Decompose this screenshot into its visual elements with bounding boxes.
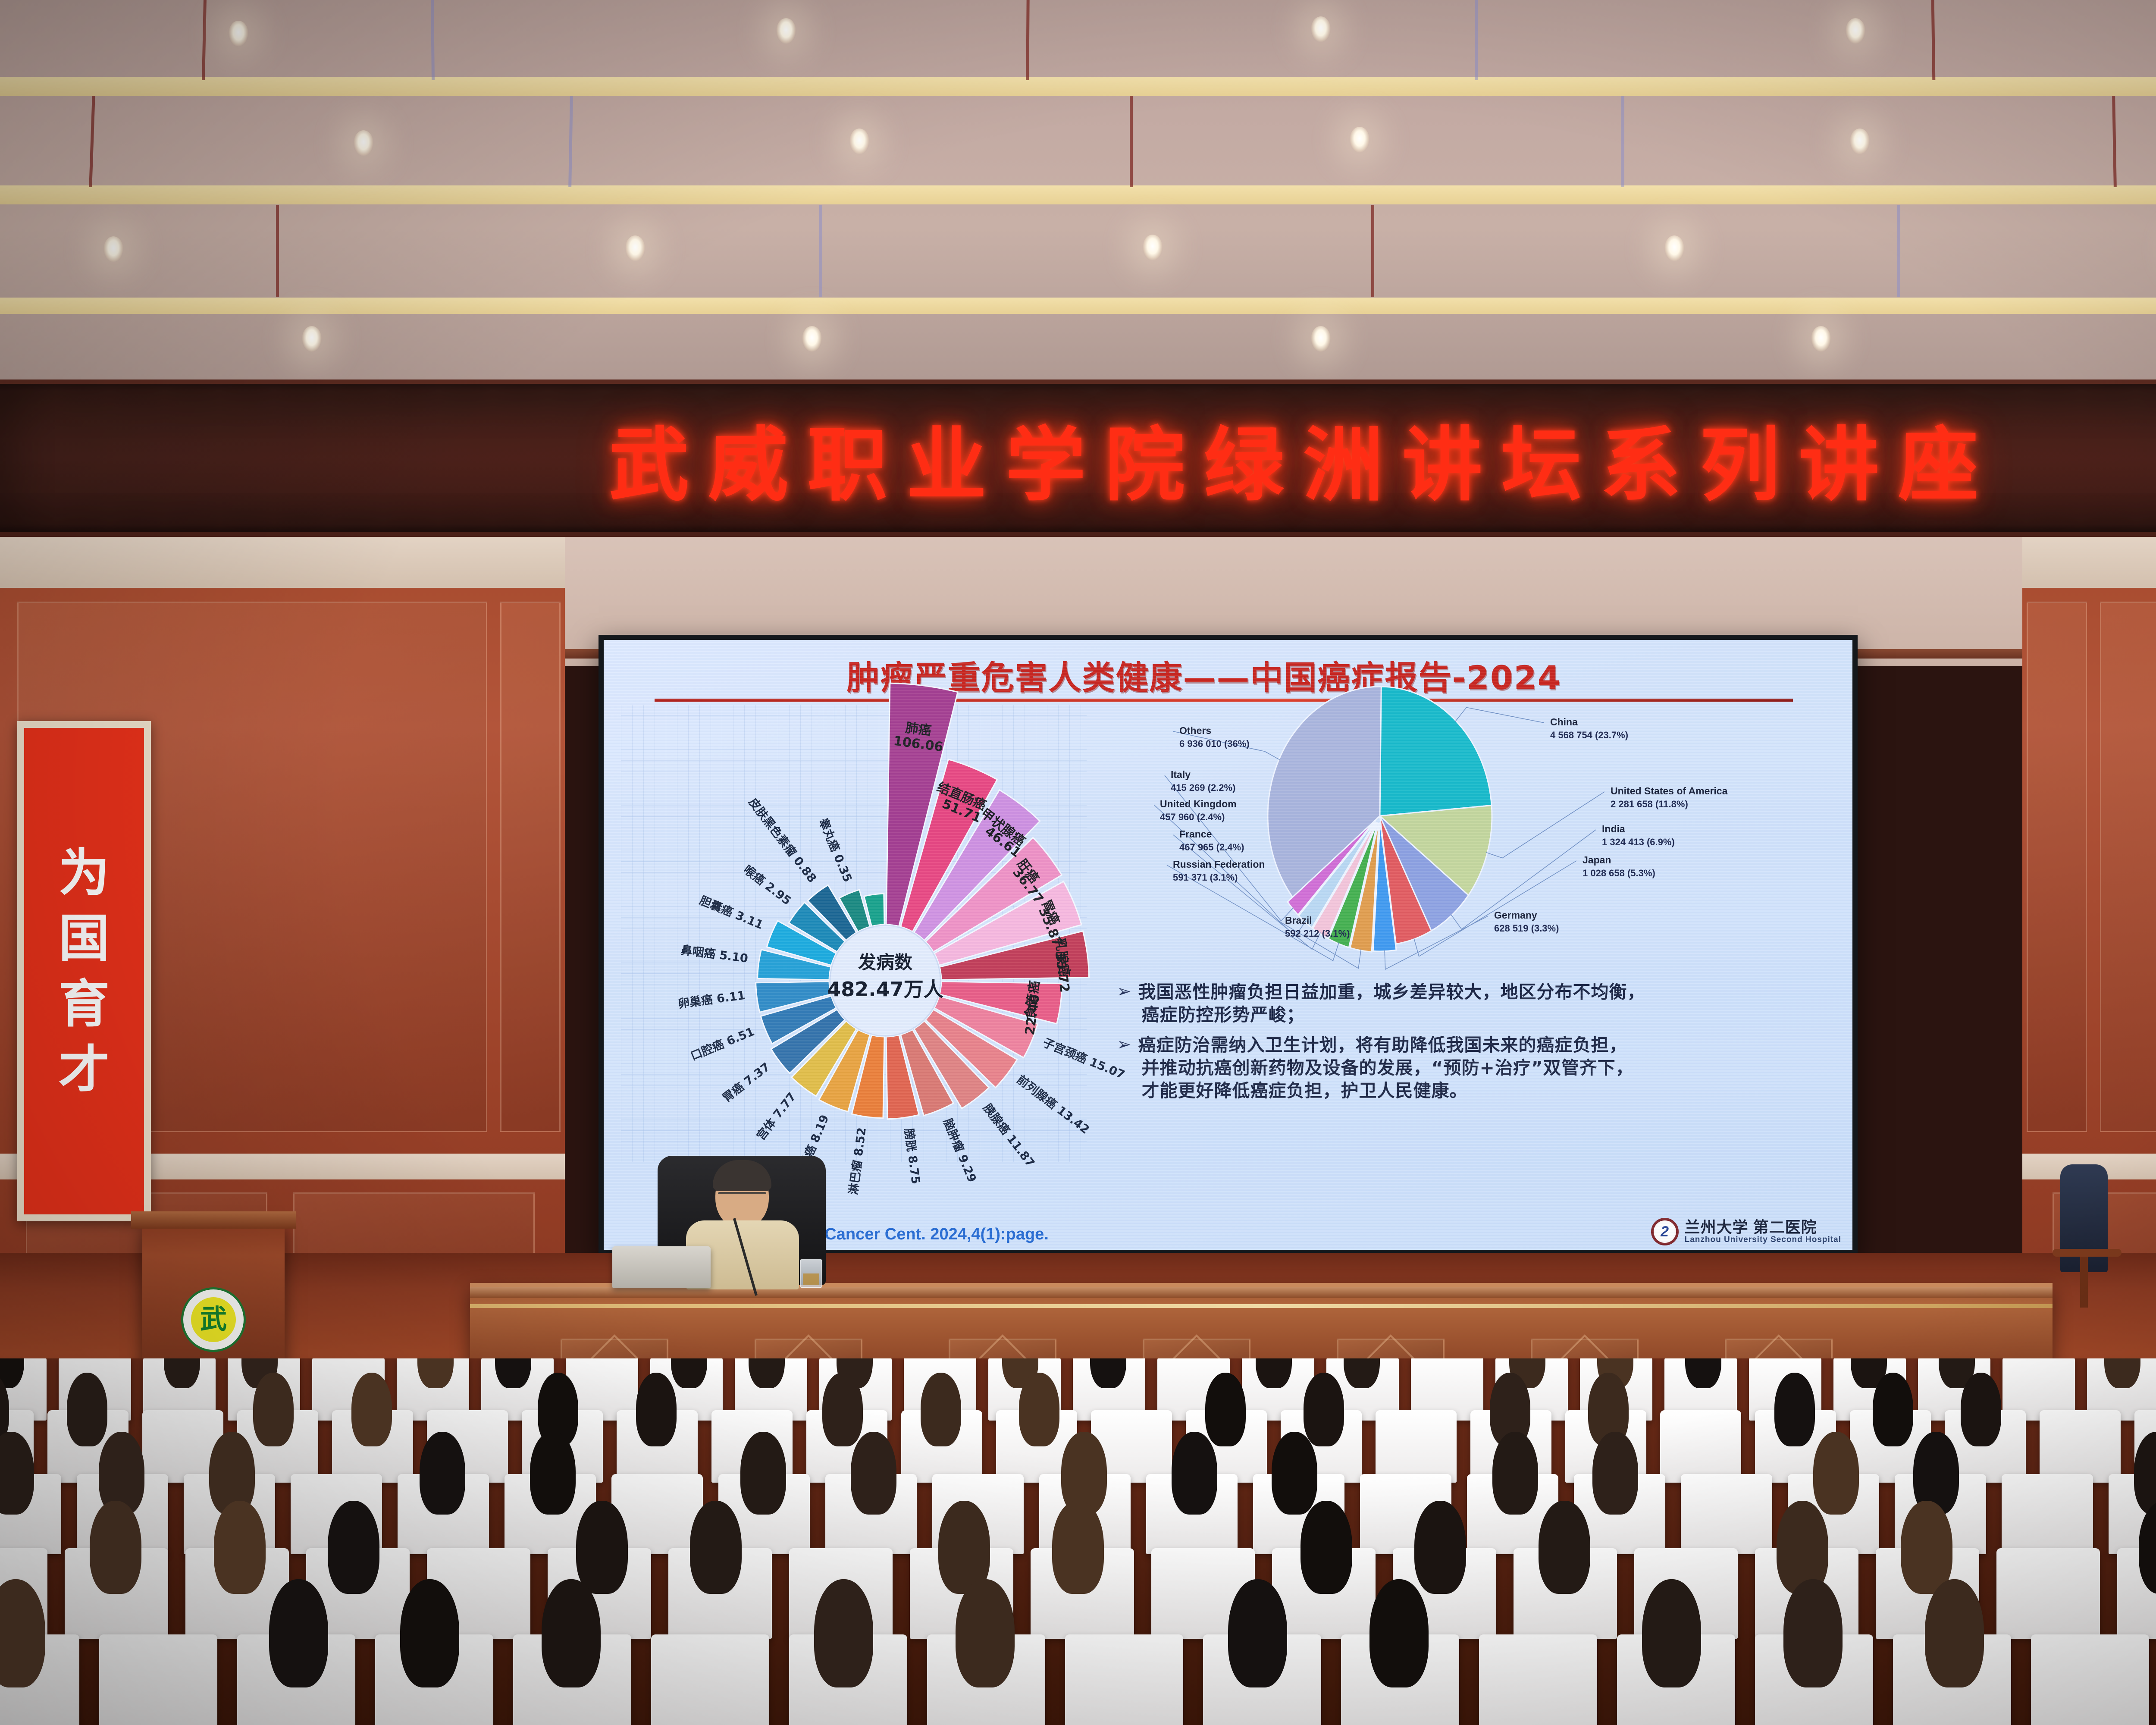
downlight-icon bbox=[1846, 18, 1865, 44]
bullet-marker-icon: ➢ bbox=[1117, 1034, 1131, 1103]
svg-text:Others: Others bbox=[1179, 725, 1211, 736]
led-banner-text: 武威职业学院绿洲讲坛系列讲座 bbox=[0, 400, 2156, 516]
downlight-icon bbox=[849, 129, 869, 154]
audience-member bbox=[67, 1373, 107, 1446]
banner-scroll-left: 为 国 育 才 bbox=[17, 721, 151, 1221]
rose-chart-svg: 发病数 482.47万人 肺癌106.06结直肠癌51.71甲状腺癌46.61肝… bbox=[667, 705, 1103, 1140]
svg-text:胃癌 7.37: 胃癌 7.37 bbox=[720, 1060, 773, 1105]
audience-member bbox=[1774, 1373, 1815, 1446]
downlight-icon bbox=[776, 18, 796, 44]
downlight-icon bbox=[1143, 235, 1163, 260]
audience-member bbox=[1304, 1373, 1344, 1446]
audience-chair bbox=[1065, 1634, 1183, 1725]
audience-member bbox=[214, 1501, 266, 1594]
audience-member bbox=[269, 1579, 328, 1687]
bullet-1-line-1: 我国恶性肿瘤负担日益加重，城乡差异较大，地区分布不均衡， bbox=[1138, 982, 1645, 1002]
svg-text:China: China bbox=[1550, 716, 1578, 728]
audience-member bbox=[400, 1579, 459, 1687]
audience-chair bbox=[1660, 1410, 1741, 1483]
audience-member bbox=[1414, 1501, 1466, 1594]
slide-bullet-list: ➢ 我国恶性肿瘤负担日益加重，城乡差异较大，地区分布不均衡， 癌症防控形势严峻；… bbox=[1117, 981, 1833, 1109]
list-item: ➢ 癌症防治需纳入卫生计划，将有助降低我国未来的癌症负担， 并推动抗癌创新药物及… bbox=[1117, 1034, 1833, 1103]
svg-text:1 324 413 (6.9%): 1 324 413 (6.9%) bbox=[1602, 837, 1675, 847]
rose-center-title: 发病数 bbox=[858, 952, 912, 973]
audience-member bbox=[328, 1501, 379, 1594]
audience-member bbox=[851, 1432, 896, 1515]
audience-member bbox=[636, 1373, 677, 1446]
audience-member bbox=[956, 1579, 1015, 1687]
lecture-hall-photo: 武威职业学院绿洲讲坛系列讲座 为 国 育 才 为 党 育 人 bbox=[0, 0, 2156, 1725]
svg-text:India: India bbox=[1602, 823, 1625, 834]
lanzhou-university-seal-icon bbox=[1651, 1218, 1679, 1245]
audience-member bbox=[90, 1501, 141, 1594]
scroll-left-char-3: 育 bbox=[59, 979, 110, 1029]
svg-text:Germany: Germany bbox=[1494, 910, 1537, 921]
svg-text:457 960 (2.4%): 457 960 (2.4%) bbox=[1160, 812, 1225, 822]
svg-text:4 568 754 (23.7%): 4 568 754 (23.7%) bbox=[1550, 730, 1628, 740]
svg-text:2 281 658 (11.8%): 2 281 658 (11.8%) bbox=[1611, 799, 1688, 809]
svg-text:France: France bbox=[1179, 828, 1212, 840]
audience-chair bbox=[651, 1634, 769, 1725]
audience-member bbox=[542, 1579, 601, 1687]
audience-member bbox=[1592, 1432, 1638, 1515]
svg-text:鼻咽癌 5.10: 鼻咽癌 5.10 bbox=[680, 943, 749, 966]
audience-chair bbox=[99, 1634, 217, 1725]
scroll-left-char-1: 为 bbox=[59, 847, 110, 898]
audience-member bbox=[1642, 1579, 1701, 1687]
audience-member bbox=[1813, 1432, 1859, 1515]
audience-member bbox=[1777, 1501, 1828, 1594]
svg-text:宫体 7.77: 宫体 7.77 bbox=[754, 1090, 799, 1143]
global-cancer-pie-chart: China4 568 754 (23.7%)United States of A… bbox=[1104, 665, 1846, 967]
audience-chair bbox=[2031, 1634, 2149, 1725]
bullet-2-line-2: 并推动抗癌创新药物及设备的发展，“预防+治疗”双管齐下， bbox=[1138, 1057, 1634, 1079]
bullet-marker-icon: ➢ bbox=[1117, 981, 1131, 1027]
hospital-logo: 兰州大学 第二医院 Lanzhou University Second Hosp… bbox=[1651, 1218, 1841, 1245]
svg-text:1 028 658 (5.3%): 1 028 658 (5.3%) bbox=[1583, 868, 1655, 878]
svg-text:415 269 (2.2%): 415 269 (2.2%) bbox=[1171, 782, 1235, 793]
cancer-incidence-rose-chart: 发病数 482.47万人 肺癌106.06结直肠癌51.71甲状腺癌46.61肝… bbox=[667, 705, 1103, 1140]
audience-member bbox=[1901, 1501, 1952, 1594]
svg-text:卵巢癌 6.11: 卵巢癌 6.11 bbox=[677, 988, 746, 1011]
svg-text:Japan: Japan bbox=[1583, 854, 1611, 866]
svg-text:United Kingdom: United Kingdom bbox=[1160, 798, 1237, 809]
svg-text:前列腺癌 13.42: 前列腺癌 13.42 bbox=[1014, 1073, 1092, 1137]
audience-member bbox=[1300, 1501, 1352, 1594]
side-chair bbox=[2053, 1164, 2122, 1307]
downlight-icon bbox=[802, 326, 822, 352]
downlight-icon bbox=[1811, 326, 1831, 352]
audience-member bbox=[1172, 1432, 1217, 1515]
audience-member bbox=[1783, 1579, 1843, 1687]
svg-text:628 519 (3.3%): 628 519 (3.3%) bbox=[1494, 923, 1559, 934]
audience-member bbox=[530, 1432, 576, 1515]
downlight-icon bbox=[302, 326, 322, 352]
audience-chair bbox=[1479, 1634, 1597, 1725]
audience-seating bbox=[0, 1358, 2156, 1725]
downlight-icon bbox=[229, 21, 248, 47]
laptop bbox=[612, 1246, 711, 1288]
audience-member bbox=[814, 1579, 873, 1687]
audience-member bbox=[1019, 1373, 1059, 1446]
tea-cup bbox=[800, 1259, 822, 1288]
svg-text:Italy: Italy bbox=[1171, 769, 1191, 780]
scroll-left-char-4: 才 bbox=[59, 1044, 110, 1095]
svg-text:Brazil: Brazil bbox=[1285, 915, 1312, 926]
downlight-icon bbox=[625, 235, 645, 261]
svg-text:6 936 010 (36%): 6 936 010 (36%) bbox=[1179, 738, 1250, 749]
audience-chair bbox=[1376, 1410, 1457, 1483]
audience-chair bbox=[2040, 1410, 2121, 1483]
svg-text:592 212 (3.1%): 592 212 (3.1%) bbox=[1285, 928, 1350, 939]
audience-member bbox=[420, 1432, 465, 1515]
downlight-icon bbox=[103, 236, 123, 262]
downlight-icon bbox=[1311, 16, 1331, 42]
audience-member bbox=[1369, 1579, 1429, 1687]
emblem-initial: 武 bbox=[191, 1297, 236, 1342]
svg-text:467 965 (2.4%): 467 965 (2.4%) bbox=[1179, 842, 1244, 853]
audience-member bbox=[1873, 1373, 1913, 1446]
audience-member bbox=[921, 1373, 961, 1446]
bullet-1-line-2: 癌症防控形势严峻； bbox=[1138, 1004, 1645, 1026]
audience-member bbox=[1925, 1579, 1984, 1687]
svg-text:喉癌 2.95: 喉癌 2.95 bbox=[741, 862, 794, 908]
audience-member bbox=[1272, 1432, 1317, 1515]
audience-chair bbox=[1681, 1474, 1772, 1554]
audience-member bbox=[253, 1373, 294, 1446]
list-item: ➢ 我国恶性肿瘤负担日益加重，城乡差异较大，地区分布不均衡， 癌症防控形势严峻； bbox=[1117, 981, 1833, 1027]
svg-text:睾丸癌 0.35: 睾丸癌 0.35 bbox=[816, 816, 855, 884]
audience-member bbox=[1961, 1373, 2001, 1446]
audience-chair bbox=[2002, 1474, 2093, 1554]
audience-member bbox=[1228, 1579, 1287, 1687]
downlight-icon bbox=[354, 130, 373, 156]
bullet-1-text: 我国恶性肿瘤负担日益加重，城乡差异较大，地区分布不均衡， 癌症防控形势严峻； bbox=[1138, 981, 1645, 1027]
ceiling bbox=[0, 0, 2156, 379]
svg-text:591 371 (3.1%): 591 371 (3.1%) bbox=[1173, 872, 1238, 883]
logo-english-name: Lanzhou University Second Hospital bbox=[1685, 1236, 1841, 1244]
downlight-icon bbox=[1311, 326, 1331, 352]
audience-member bbox=[351, 1373, 392, 1446]
audience-member bbox=[576, 1501, 628, 1594]
bullet-2-line-1: 癌症防治需纳入卫生计划，将有助降低我国未来的癌症负担， bbox=[1138, 1035, 1627, 1055]
audience-member bbox=[1492, 1432, 1538, 1515]
audience-member bbox=[1205, 1373, 1246, 1446]
bullet-2-text: 癌症防治需纳入卫生计划，将有助降低我国未来的癌症负担， 并推动抗癌创新药物及设备… bbox=[1138, 1034, 1634, 1103]
eyeglasses-icon bbox=[718, 1192, 766, 1201]
downlight-icon bbox=[1850, 129, 1870, 154]
rose-center-value: 482.47万人 bbox=[827, 978, 943, 1001]
audience-member bbox=[740, 1432, 786, 1515]
wuwei-vocational-college-emblem-icon: 武 bbox=[181, 1287, 246, 1352]
bullet-2-line-3: 才能更好降低癌症负担，护卫人民健康。 bbox=[1138, 1079, 1634, 1102]
svg-text:口腔癌 6.51: 口腔癌 6.51 bbox=[689, 1025, 756, 1063]
downlight-icon bbox=[1350, 127, 1369, 153]
svg-text:子宫颈癌 15.07: 子宫颈癌 15.07 bbox=[1041, 1035, 1127, 1082]
audience-member bbox=[690, 1501, 742, 1594]
logo-chinese-name: 兰州大学 第二医院 bbox=[1685, 1219, 1841, 1236]
svg-text:United States of America: United States of America bbox=[1611, 785, 1728, 797]
led-banner: 武威职业学院绿洲讲坛系列讲座 bbox=[0, 379, 2156, 537]
audience-member bbox=[1052, 1501, 1104, 1594]
pie-chart-svg: China4 568 754 (23.7%)United States of A… bbox=[1104, 665, 1846, 967]
downlight-icon bbox=[1664, 235, 1684, 261]
slide-citation: Natl Cancer Cent. 2024,4(1):page. bbox=[789, 1225, 1049, 1244]
svg-text:胆囊癌 3.11: 胆囊癌 3.11 bbox=[697, 894, 765, 932]
svg-text:Russian Federation: Russian Federation bbox=[1173, 859, 1265, 870]
audience-member bbox=[822, 1373, 863, 1446]
scroll-left-char-2: 国 bbox=[59, 913, 110, 964]
audience-chair bbox=[1996, 1548, 2100, 1639]
audience-member bbox=[1539, 1501, 1590, 1594]
